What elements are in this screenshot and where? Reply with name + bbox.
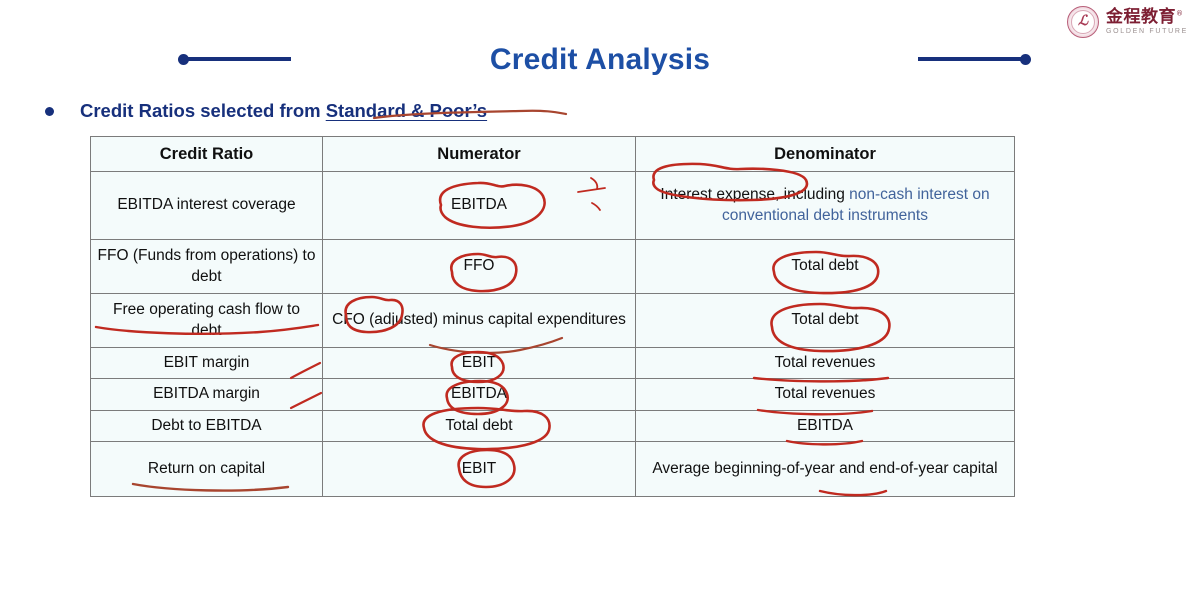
denominator-dark-text: Total revenues	[775, 385, 876, 402]
brand-logo: ℒ 金程教育® GOLDEN FUTURE	[1067, 6, 1188, 38]
numerator-value: EBITDA	[451, 384, 507, 404]
table-row: FFO (Funds from operations) to debt FFO …	[91, 240, 1015, 294]
cell-numerator: EBITDA	[323, 379, 636, 410]
logo-english-name: GOLDEN FUTURE	[1106, 28, 1188, 35]
denominator-dark-text: Interest expense, including	[660, 186, 849, 203]
cell-credit-ratio: EBITDA margin	[91, 379, 323, 410]
cell-numerator: CFO (adjusted) minus capital expenditure…	[323, 294, 636, 348]
registered-mark: ®	[1176, 9, 1184, 17]
numerator-value: EBIT	[462, 353, 496, 373]
logo-monogram: ℒ	[1068, 7, 1098, 37]
column-header-denominator: Denominator	[636, 137, 1015, 172]
page-title: Credit Analysis	[490, 43, 710, 77]
table-row: Free operating cash flow to debt CFO (ad…	[91, 294, 1015, 348]
table-row: EBITDA interest coverage EBITDA Interest…	[91, 172, 1015, 240]
title-decoration-left	[178, 53, 291, 65]
cell-credit-ratio: EBIT margin	[91, 348, 323, 379]
cell-credit-ratio: FFO (Funds from operations) to debt	[91, 240, 323, 294]
numerator-value: CFO (adjusted) minus capital expenditure…	[332, 310, 626, 330]
cell-numerator: EBIT	[323, 348, 636, 379]
denominator-dark-text: Total debt	[791, 311, 858, 328]
cell-credit-ratio: Debt to EBITDA	[91, 410, 323, 441]
decoration-dot-icon	[1020, 54, 1031, 65]
cell-denominator: Total debt	[636, 294, 1015, 348]
table-row: EBITDA margin EBITDA Total revenues	[91, 379, 1015, 410]
table-row: Return on capital EBIT Average beginning…	[91, 442, 1015, 497]
cell-credit-ratio: EBITDA interest coverage	[91, 172, 323, 240]
decoration-bar	[187, 57, 291, 60]
denominator-dark-text: Average beginning-of-year and end-of-yea…	[652, 460, 997, 477]
numerator-value: EBIT	[462, 459, 496, 479]
decoration-bar	[918, 57, 1022, 60]
denominator-dark-text: EBITDA	[797, 417, 853, 434]
numerator-value: Total debt	[445, 416, 512, 436]
column-header-numerator: Numerator	[323, 137, 636, 172]
table-row: EBIT margin EBIT Total revenues	[91, 348, 1015, 379]
bullet-underlined: Standard & Poor’s	[326, 100, 487, 121]
cell-numerator: Total debt	[323, 410, 636, 441]
cell-credit-ratio: Return on capital	[91, 442, 323, 497]
logo-chinese-name: 金程教育®	[1106, 9, 1188, 26]
cell-denominator: Total revenues	[636, 348, 1015, 379]
logo-emblem-icon: ℒ	[1067, 6, 1099, 38]
cell-numerator: EBIT	[323, 442, 636, 497]
bullet-text: Credit Ratios selected from Standard & P…	[80, 100, 487, 122]
cell-numerator: EBITDA	[323, 172, 636, 240]
cell-denominator: Total debt	[636, 240, 1015, 294]
cell-denominator: Interest expense, including non-cash int…	[636, 172, 1015, 240]
table-header-row: Credit Ratio Numerator Denominator	[91, 137, 1015, 172]
bullet-dot-icon	[45, 107, 54, 116]
cell-denominator: Average beginning-of-year and end-of-yea…	[636, 442, 1015, 497]
numerator-value: FFO	[464, 256, 495, 276]
denominator-dark-text: Total debt	[791, 257, 858, 274]
logo-wordmark: 金程教育® GOLDEN FUTURE	[1106, 9, 1188, 35]
cell-credit-ratio: Free operating cash flow to debt	[91, 294, 323, 348]
cell-denominator: EBITDA	[636, 410, 1015, 441]
cell-denominator: Total revenues	[636, 379, 1015, 410]
cell-numerator: FFO	[323, 240, 636, 294]
denominator-dark-text: Total revenues	[775, 354, 876, 371]
bullet-line: Credit Ratios selected from Standard & P…	[45, 100, 487, 122]
bullet-lead: Credit Ratios selected from	[80, 100, 326, 121]
slide-canvas: ℒ 金程教育® GOLDEN FUTURE Credit Analysis Cr…	[0, 0, 1200, 600]
credit-ratios-table: Credit Ratio Numerator Denominator EBITD…	[90, 136, 1015, 497]
table-row: Debt to EBITDA Total debt EBITDA	[91, 410, 1015, 441]
numerator-value: EBITDA	[451, 195, 507, 215]
column-header-credit-ratio: Credit Ratio	[91, 137, 323, 172]
title-decoration-right	[918, 53, 1031, 65]
